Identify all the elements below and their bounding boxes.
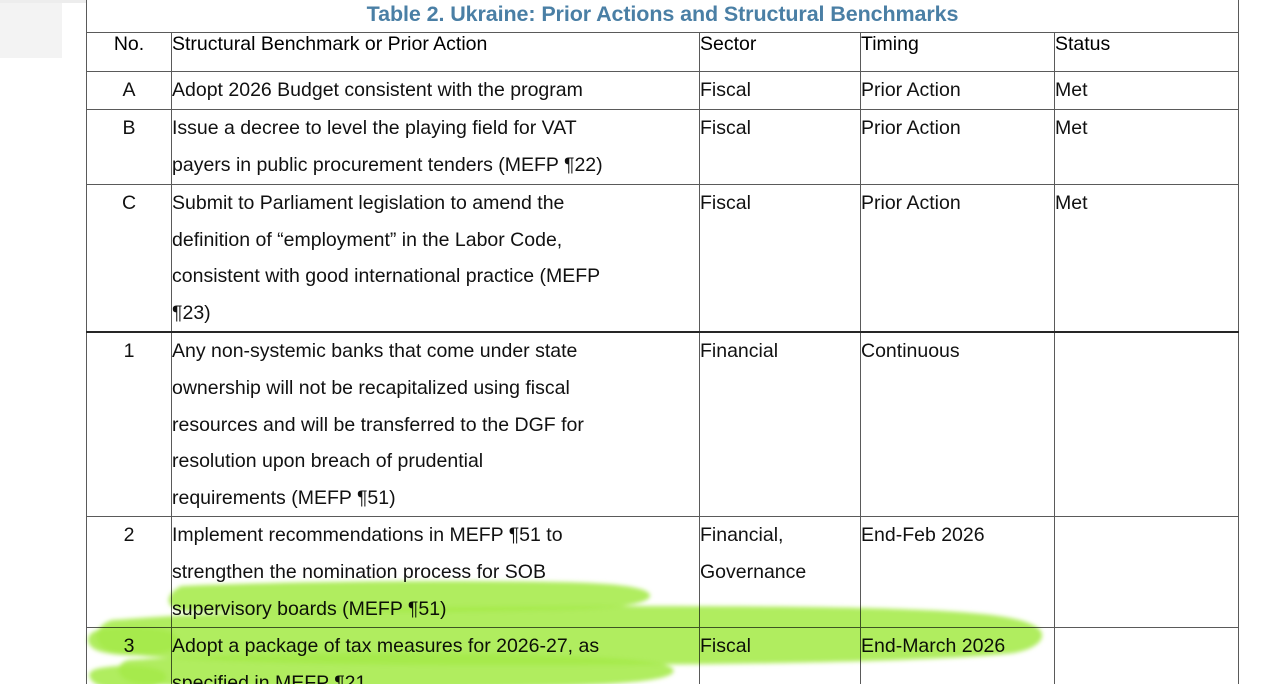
- row-status: Met: [1055, 72, 1239, 110]
- table-title-cell: Table 2. Ukraine: Prior Actions and Stru…: [87, 0, 1239, 33]
- table-row: B Issue a decree to level the playing fi…: [87, 110, 1239, 185]
- table-title-row: Table 2. Ukraine: Prior Actions and Stru…: [87, 0, 1239, 33]
- sector-line: Governance: [700, 554, 860, 591]
- row-benchmark: Any non-systemic banks that come under s…: [172, 332, 700, 516]
- row-timing: Continuous: [861, 332, 1055, 516]
- row-benchmark: Adopt 2026 Budget consistent with the pr…: [172, 72, 700, 110]
- row-sector: Fiscal: [700, 110, 861, 185]
- column-header-no: No.: [87, 33, 172, 72]
- column-header-sector: Sector: [700, 33, 861, 72]
- benchmarks-table: Table 2. Ukraine: Prior Actions and Stru…: [86, 0, 1239, 684]
- benchmark-line: definition of “employment” in the Labor …: [172, 222, 699, 259]
- benchmark-line: specified in MEFP ¶21: [172, 665, 699, 684]
- benchmark-line: resources and will be transferred to the…: [172, 407, 699, 444]
- sector-line: Financial,: [700, 517, 860, 554]
- benchmark-line: ownership will not be recapitalized usin…: [172, 370, 699, 407]
- page-edge-shading-top: [0, 0, 86, 3]
- table-header-row: No. Structural Benchmark or Prior Action…: [87, 33, 1239, 72]
- row-benchmark: Issue a decree to level the playing fiel…: [172, 110, 700, 185]
- table-row: 2 Implement recommendations in MEFP ¶51 …: [87, 517, 1239, 628]
- table-row: 3 Adopt a package of tax measures for 20…: [87, 628, 1239, 684]
- page-edge-shading-left: [0, 0, 62, 58]
- benchmark-line: Adopt 2026 Budget consistent with the pr…: [172, 72, 699, 109]
- row-number: 3: [87, 628, 172, 684]
- document-page: Table 2. Ukraine: Prior Actions and Stru…: [0, 0, 1280, 684]
- row-timing: Prior Action: [861, 185, 1055, 333]
- benchmark-line: Implement recommendations in MEFP ¶51 to: [172, 517, 699, 554]
- benchmark-line: strengthen the nomination process for SO…: [172, 554, 699, 591]
- benchmark-line: payers in public procurement tenders (ME…: [172, 147, 699, 184]
- table-row: 1 Any non-systemic banks that come under…: [87, 332, 1239, 516]
- row-benchmark: Submit to Parliament legislation to amen…: [172, 185, 700, 333]
- benchmark-line: Issue a decree to level the playing fiel…: [172, 110, 699, 147]
- benchmark-line: Submit to Parliament legislation to amen…: [172, 185, 699, 222]
- row-number: A: [87, 72, 172, 110]
- benchmark-line: Any non-systemic banks that come under s…: [172, 333, 699, 370]
- column-header-status: Status: [1055, 33, 1239, 72]
- benchmark-line: requirements (MEFP ¶51): [172, 480, 699, 517]
- table-row: C Submit to Parliament legislation to am…: [87, 185, 1239, 333]
- row-sector: Fiscal: [700, 72, 861, 110]
- row-benchmark: Adopt a package of tax measures for 2026…: [172, 628, 700, 684]
- row-benchmark: Implement recommendations in MEFP ¶51 to…: [172, 517, 700, 628]
- row-timing: End-March 2026: [861, 628, 1055, 684]
- row-timing: Prior Action: [861, 110, 1055, 185]
- benchmark-line: resolution upon breach of prudential: [172, 443, 699, 480]
- benchmark-line: ¶23): [172, 295, 699, 332]
- page-title: Table 2. Ukraine: Prior Actions and Stru…: [87, 0, 1238, 31]
- row-status: [1055, 332, 1239, 516]
- row-number: C: [87, 185, 172, 333]
- row-number: 2: [87, 517, 172, 628]
- row-sector: Financial: [700, 332, 861, 516]
- row-timing: End-Feb 2026: [861, 517, 1055, 628]
- row-timing: Prior Action: [861, 72, 1055, 110]
- row-sector: Financial, Governance: [700, 517, 861, 628]
- table-row: A Adopt 2026 Budget consistent with the …: [87, 72, 1239, 110]
- row-sector: Fiscal: [700, 185, 861, 333]
- column-header-benchmark: Structural Benchmark or Prior Action: [172, 33, 700, 72]
- row-status: [1055, 628, 1239, 684]
- row-sector: Fiscal: [700, 628, 861, 684]
- column-header-timing: Timing: [861, 33, 1055, 72]
- benchmark-line: consistent with good international pract…: [172, 258, 699, 295]
- benchmark-line: Adopt a package of tax measures for 2026…: [172, 628, 699, 665]
- benchmark-line: supervisory boards (MEFP ¶51): [172, 591, 699, 628]
- row-status: Met: [1055, 185, 1239, 333]
- row-number: 1: [87, 332, 172, 516]
- row-status: Met: [1055, 110, 1239, 185]
- row-number: B: [87, 110, 172, 185]
- row-status: [1055, 517, 1239, 628]
